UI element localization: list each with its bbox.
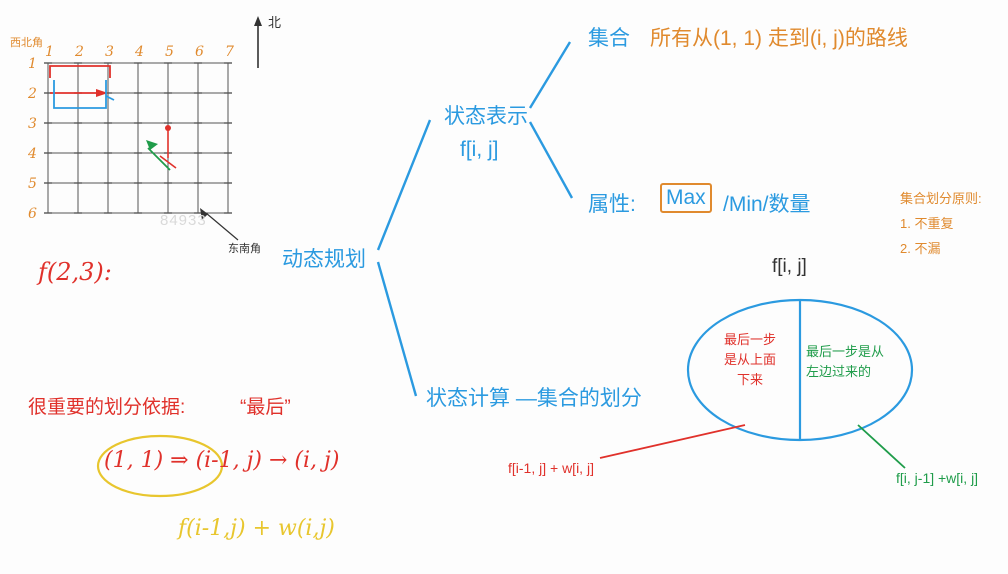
corner-nw-label: 西北角 bbox=[10, 34, 43, 50]
venn-left-line-1: 最后一步 bbox=[712, 330, 788, 350]
grid-col-label-1: 1 bbox=[45, 44, 54, 60]
venn-left-formula: f[i-1, j] + w[i, j] bbox=[508, 460, 594, 476]
attribute-rest-label: /Min/数量 bbox=[723, 188, 811, 218]
branch-state-calculation-title: 状态计算 —集合的划分 bbox=[426, 382, 642, 412]
branch-state-representation-title: 状态表示 bbox=[444, 100, 528, 130]
note-important-label: 很重要的划分依据: bbox=[28, 392, 185, 419]
principles-item-1: 1. 不重复 bbox=[900, 213, 982, 232]
set-label: 集合 bbox=[588, 22, 630, 52]
venn-right-formula: f[i, j-1] +w[i, j] bbox=[896, 470, 978, 486]
venn-right-line-1: 最后一步是从 bbox=[806, 342, 910, 362]
branch-state-representation-subtitle: f[i, j] bbox=[460, 138, 499, 162]
grid-panel: 北 西北角 东南角 1 2 3 4 5 6 7 1 2 3 4 5 6 8493… bbox=[10, 8, 290, 258]
grid-col-label-5: 5 bbox=[165, 44, 174, 60]
grid-col-label-3: 3 bbox=[105, 44, 114, 60]
handwritten-recurrence-expression: f(i-1,j) + w(i,j) bbox=[178, 516, 335, 541]
grid-row-label-1: 1 bbox=[28, 56, 37, 72]
venn-left-line-3: 下来 bbox=[712, 370, 788, 390]
attribute-max-label: Max bbox=[666, 186, 706, 209]
venn-left-leader bbox=[600, 425, 745, 458]
handwritten-path-expression: (1, 1) ⇒ (i-1, j) → (i, j) bbox=[104, 448, 339, 473]
venn-left-line-2: 是从上面 bbox=[712, 350, 788, 370]
principles-item-2: 2. 不漏 bbox=[900, 238, 982, 257]
venn-top-label: f[i, j] bbox=[772, 256, 807, 278]
note-quoted-label: “最后” bbox=[240, 392, 291, 419]
venn-right-text: 最后一步是从 左边过来的 bbox=[806, 342, 910, 382]
mindmap-root-label: 动态规划 bbox=[282, 243, 366, 273]
venn-right-line-2: 左边过来的 bbox=[806, 362, 910, 382]
grid-row-label-3: 3 bbox=[28, 116, 37, 132]
watermark-text: 84933 bbox=[160, 212, 207, 229]
grid-row-label-5: 5 bbox=[28, 176, 37, 192]
grid-row-label-6: 6 bbox=[28, 206, 37, 222]
handwritten-formula-f23: f(2,3): bbox=[38, 258, 112, 286]
grid-col-label-4: 4 bbox=[135, 44, 144, 60]
grid-col-label-7: 7 bbox=[225, 44, 234, 60]
attribute-label: 属性: bbox=[588, 188, 636, 218]
attribute-max-box: Max bbox=[660, 183, 712, 213]
venn-right-leader bbox=[858, 425, 905, 468]
principles-block: 集合划分原则: 1. 不重复 2. 不漏 bbox=[900, 188, 982, 257]
corner-se-label: 东南角 bbox=[228, 240, 261, 256]
grid-row-label-2: 2 bbox=[28, 86, 37, 102]
grid-col-label-2: 2 bbox=[75, 44, 84, 60]
principles-title: 集合划分原则: bbox=[900, 188, 982, 207]
set-value-text: 所有从(1, 1) 走到(i, j)的路线 bbox=[650, 22, 908, 52]
venn-left-text: 最后一步 是从上面 下来 bbox=[712, 330, 788, 390]
grid-row-label-4: 4 bbox=[28, 146, 37, 162]
grid-col-label-6: 6 bbox=[195, 44, 204, 60]
compass-north-label: 北 bbox=[268, 12, 281, 31]
